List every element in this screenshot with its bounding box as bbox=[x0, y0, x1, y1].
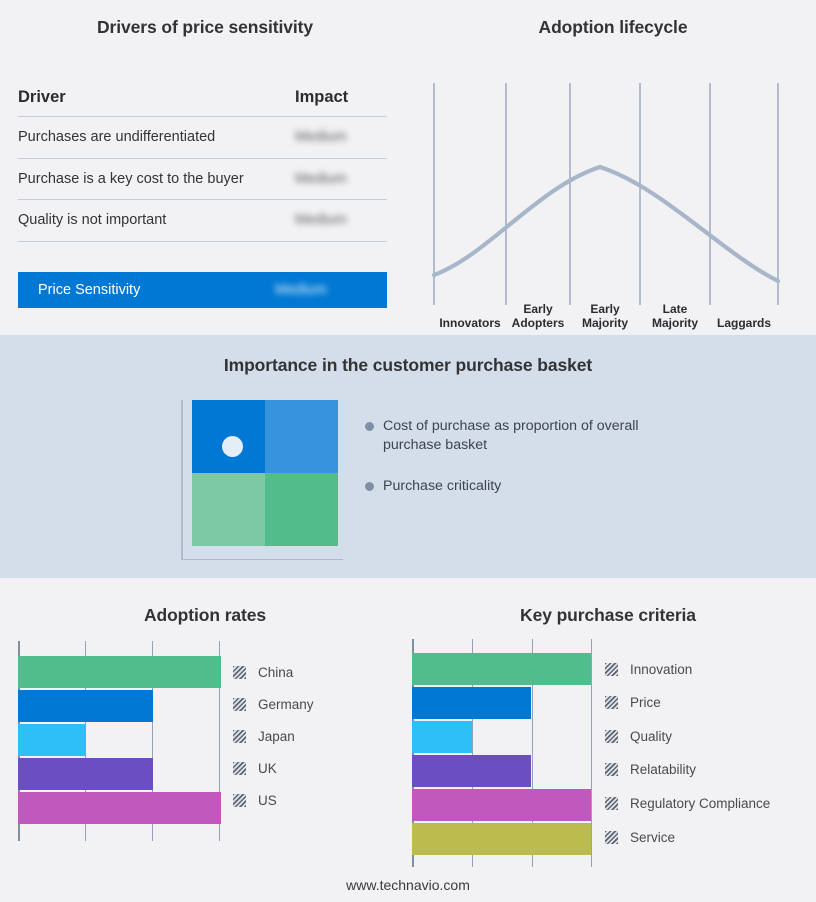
column-header-impact: Impact bbox=[295, 88, 387, 107]
adoption-bell-curve bbox=[434, 167, 778, 281]
legend-label: China bbox=[258, 665, 293, 680]
hatched-swatch-icon bbox=[605, 763, 618, 776]
matrix-x-axis bbox=[181, 559, 343, 561]
matrix-y-axis bbox=[181, 400, 183, 560]
legend-label: Regulatory Compliance bbox=[630, 796, 770, 811]
adoption-rates-title: Adoption rates bbox=[0, 605, 410, 626]
legend-label: Japan bbox=[258, 729, 295, 744]
quadrant-top-right bbox=[265, 400, 338, 473]
hatched-swatch-icon bbox=[233, 698, 246, 711]
table-row: Purchases are undifferentiated Medium bbox=[18, 117, 387, 159]
bar-row-germany bbox=[18, 690, 221, 722]
bar-row-regulatory-compliance bbox=[412, 789, 591, 821]
legend-label: Quality bbox=[630, 729, 672, 744]
impact-value-redacted: Medium bbox=[295, 171, 387, 187]
legend-label: Relatability bbox=[630, 762, 696, 777]
summary-impact-redacted: Medium bbox=[275, 282, 387, 298]
bar-japan bbox=[18, 724, 86, 756]
bar-relatability bbox=[412, 755, 531, 787]
hatched-swatch-icon bbox=[605, 831, 618, 844]
adoption-lifecycle-panel: Adoption lifecycle Innovators Early Adop… bbox=[410, 0, 816, 335]
bullet-dot-icon bbox=[365, 422, 374, 431]
legend-label: Innovation bbox=[630, 662, 692, 677]
bar-regulatory-compliance bbox=[412, 789, 591, 821]
legend-item-innovation: Innovation bbox=[605, 662, 692, 677]
hatched-swatch-icon bbox=[605, 696, 618, 709]
quadrant-bottom-left bbox=[192, 473, 265, 546]
key-purchase-criteria-plot bbox=[412, 639, 592, 867]
legend-label: Purchase criticality bbox=[383, 477, 501, 496]
price-sensitivity-summary-row: Price Sensitivity Medium bbox=[18, 272, 387, 308]
bar-uk bbox=[18, 758, 153, 790]
purchase-basket-matrix bbox=[181, 400, 343, 560]
bar-row-uk bbox=[18, 758, 221, 790]
purchase-basket-band: Importance in the customer purchase bask… bbox=[0, 335, 816, 578]
stage-label-late-majority: Late Majority bbox=[640, 303, 710, 330]
bar-row-service bbox=[412, 823, 591, 855]
legend-item-price: Price bbox=[605, 695, 661, 710]
bar-innovation bbox=[412, 653, 591, 685]
legend-label: Price bbox=[630, 695, 661, 710]
legend-item-regulatory-compliance: Regulatory Compliance bbox=[605, 796, 770, 811]
adoption-rates-legend: China Germany Japan UK US bbox=[233, 641, 403, 841]
legend-item-service: Service bbox=[605, 830, 675, 845]
matrix-quadrants bbox=[192, 400, 338, 546]
hatched-swatch-icon bbox=[233, 794, 246, 807]
bullet-dot-icon bbox=[365, 482, 374, 491]
legend-label: UK bbox=[258, 761, 277, 776]
legend-label: US bbox=[258, 793, 277, 808]
legend-item-china: China bbox=[233, 665, 293, 680]
driver-label: Quality is not important bbox=[18, 212, 295, 228]
stage-label-early-adopters: Early Adopters bbox=[506, 303, 570, 330]
drivers-table: Driver Impact Purchases are undifferenti… bbox=[18, 88, 387, 242]
position-marker-dot bbox=[222, 436, 243, 457]
quadrant-bottom-right bbox=[265, 473, 338, 546]
bar-china bbox=[18, 656, 221, 688]
legend-item-japan: Japan bbox=[233, 729, 295, 744]
lifecycle-title: Adoption lifecycle bbox=[410, 17, 816, 38]
bar-service bbox=[412, 823, 591, 855]
stage-label-early-majority: Early Majority bbox=[570, 303, 640, 330]
bar-row-quality bbox=[412, 721, 591, 753]
adoption-rates-plot bbox=[18, 641, 221, 841]
lifecycle-curve-chart bbox=[410, 55, 816, 305]
hatched-swatch-icon bbox=[233, 730, 246, 743]
legend-item: Purchase criticality bbox=[365, 477, 665, 496]
driver-label: Purchase is a key cost to the buyer bbox=[18, 171, 295, 187]
hatched-swatch-icon bbox=[233, 762, 246, 775]
hatched-swatch-icon bbox=[605, 797, 618, 810]
bar-row-us bbox=[18, 792, 221, 824]
impact-value-redacted: Medium bbox=[295, 129, 387, 145]
bar-row-japan bbox=[18, 724, 221, 756]
summary-label: Price Sensitivity bbox=[38, 282, 275, 298]
footer-url: www.technavio.com bbox=[0, 877, 816, 893]
drivers-panel: Drivers of price sensitivity Driver Impa… bbox=[0, 0, 410, 335]
bar-row-china bbox=[18, 656, 221, 688]
hatched-swatch-icon bbox=[233, 666, 246, 679]
bar-row-relatability bbox=[412, 755, 591, 787]
legend-item-quality: Quality bbox=[605, 729, 672, 744]
legend-item-germany: Germany bbox=[233, 697, 314, 712]
bottom-band: Adoption rates bbox=[0, 578, 816, 902]
legend-item-uk: UK bbox=[233, 761, 277, 776]
top-band: Drivers of price sensitivity Driver Impa… bbox=[0, 0, 816, 335]
bar-row-price bbox=[412, 687, 591, 719]
bar-us bbox=[18, 792, 221, 824]
hatched-swatch-icon bbox=[605, 730, 618, 743]
key-purchase-criteria-legend: Innovation Price Quality Relatability Re… bbox=[605, 639, 815, 867]
legend-label: Germany bbox=[258, 697, 314, 712]
stage-label-innovators: Innovators bbox=[434, 317, 506, 331]
legend-item-us: US bbox=[233, 793, 277, 808]
table-row: Purchase is a key cost to the buyer Medi… bbox=[18, 159, 387, 201]
bar-row-innovation bbox=[412, 653, 591, 685]
bar-germany bbox=[18, 690, 153, 722]
drivers-title: Drivers of price sensitivity bbox=[0, 17, 410, 38]
legend-item-relatability: Relatability bbox=[605, 762, 696, 777]
gridline bbox=[591, 639, 592, 867]
bar-price bbox=[412, 687, 531, 719]
legend-item: Cost of purchase as proportion of overal… bbox=[365, 417, 665, 455]
legend-label: Cost of purchase as proportion of overal… bbox=[383, 417, 639, 455]
bar-quality bbox=[412, 721, 472, 753]
driver-label: Purchases are undifferentiated bbox=[18, 129, 295, 145]
hatched-swatch-icon bbox=[605, 663, 618, 676]
table-header-row: Driver Impact bbox=[18, 88, 387, 117]
legend-label: Service bbox=[630, 830, 675, 845]
impact-value-redacted: Medium bbox=[295, 212, 387, 228]
stage-label-laggards: Laggards bbox=[710, 317, 778, 331]
basket-legend: Cost of purchase as proportion of overal… bbox=[365, 417, 665, 518]
adoption-rates-panel: Adoption rates bbox=[0, 578, 410, 902]
table-row: Quality is not important Medium bbox=[18, 200, 387, 242]
column-header-driver: Driver bbox=[18, 88, 295, 107]
key-purchase-criteria-title: Key purchase criteria bbox=[400, 605, 816, 626]
basket-title: Importance in the customer purchase bask… bbox=[0, 355, 816, 376]
key-purchase-criteria-panel: Key purchase criteria bbox=[400, 578, 816, 902]
